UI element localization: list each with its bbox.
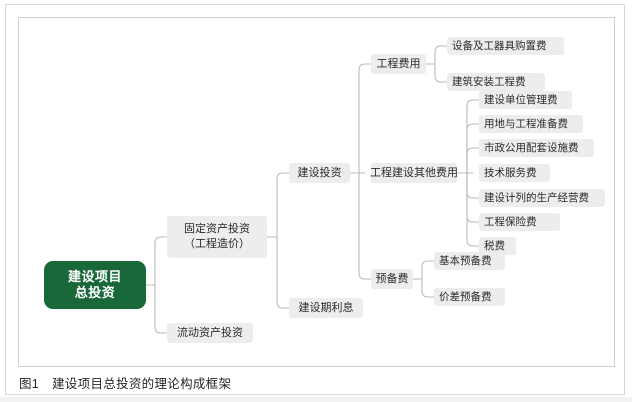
figure-caption-number: 图1 xyxy=(19,377,39,391)
node-land-and-project-preparation-fee[interactable]: 用地与工程准备费 xyxy=(479,115,583,133)
node-technical-service-fee[interactable]: 技术服务费 xyxy=(479,164,550,182)
figure-caption: 图1建设项目总投资的理论构成框架 xyxy=(19,373,231,392)
node-reserve-cost[interactable]: 预备费 xyxy=(371,269,413,289)
page-frame: 建设项目 总投资 固定资产投资 （工程造价） 流动资产投资 建设投资 建设期利息… xyxy=(5,4,625,395)
node-root-label-line2: 总投资 xyxy=(75,285,116,301)
node-engineering-cost[interactable]: 工程费用 xyxy=(371,54,426,74)
node-construction-period-interest[interactable]: 建设期利息 xyxy=(289,298,363,318)
node-other-construction-cost[interactable]: 工程建设其他费用 xyxy=(371,163,457,183)
page-bottom-shade xyxy=(0,397,632,402)
node-construction-investment[interactable]: 建设投资 xyxy=(289,163,350,183)
node-current-asset-investment[interactable]: 流动资产投资 xyxy=(167,323,253,343)
node-fixed-asset-investment[interactable]: 固定资产投资 （工程造价） xyxy=(167,216,267,258)
node-price-difference-reserve-cost[interactable]: 价差预备费 xyxy=(434,288,505,306)
node-basic-reserve-cost[interactable]: 基本预备费 xyxy=(434,252,505,270)
diagram-panel: 建设项目 总投资 固定资产投资 （工程造价） 流动资产投资 建设投资 建设期利息… xyxy=(18,17,615,367)
node-equipment-purchase-cost[interactable]: 设备及工器具购置费 xyxy=(447,37,564,55)
node-building-installation-cost[interactable]: 建筑安装工程费 xyxy=(447,73,545,91)
node-root-total-investment[interactable]: 建设项目 总投资 xyxy=(44,261,146,309)
node-listed-production-operation-fee[interactable]: 建设计列的生产经营费 xyxy=(479,189,605,207)
diagram-canvas: 建设项目 总投资 固定资产投资 （工程造价） 流动资产投资 建设投资 建设期利息… xyxy=(19,18,614,366)
node-root-label-line1: 建设项目 xyxy=(68,269,122,285)
node-engineering-insurance-fee[interactable]: 工程保险费 xyxy=(479,213,560,231)
figure-caption-text: 建设项目总投资的理论构成框架 xyxy=(52,377,231,391)
node-municipal-utility-facilities-fee[interactable]: 市政公用配套设施费 xyxy=(479,139,594,157)
node-construction-unit-management-fee[interactable]: 建设单位管理费 xyxy=(479,91,572,109)
node-fixed-asset-investment-label-line1: 固定资产投资 xyxy=(184,222,250,237)
node-fixed-asset-investment-label-line2: （工程造价） xyxy=(184,237,250,252)
